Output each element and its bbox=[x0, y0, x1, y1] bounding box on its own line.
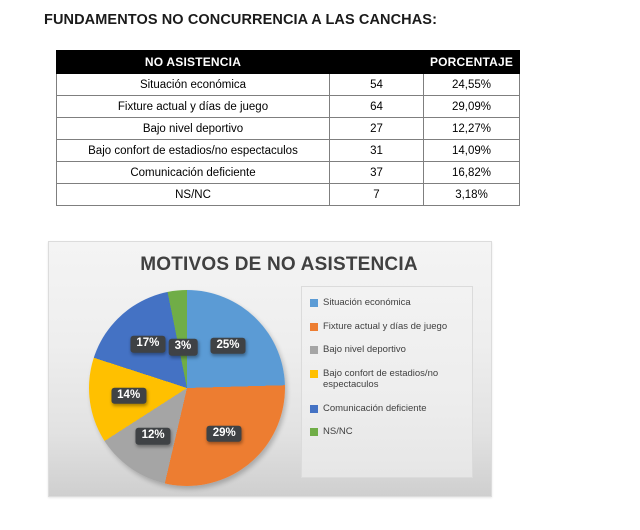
legend-swatch-icon bbox=[310, 405, 318, 413]
legend-swatch-icon bbox=[310, 370, 318, 378]
cell-label: Situación económica bbox=[57, 74, 330, 96]
cell-percent: 16,82% bbox=[424, 162, 520, 184]
legend-label: NS/NC bbox=[323, 426, 353, 438]
pie-data-label: 3% bbox=[169, 339, 198, 356]
data-table-container: NO ASISTENCIA PORCENTAJE Situación econó… bbox=[56, 50, 492, 206]
cell-percent: 3,18% bbox=[424, 184, 520, 206]
legend-item[interactable]: Bajo confort de estadios/no espectaculos bbox=[310, 368, 464, 391]
pie-data-label: 14% bbox=[111, 387, 146, 404]
legend-swatch-icon bbox=[310, 346, 318, 354]
cell-count: 37 bbox=[330, 162, 424, 184]
pie-data-label: 17% bbox=[130, 336, 165, 353]
cell-count: 7 bbox=[330, 184, 424, 206]
legend-label: Fixture actual y días de juego bbox=[323, 321, 447, 333]
pie-data-label: 12% bbox=[136, 428, 171, 445]
legend-item[interactable]: NS/NC bbox=[310, 426, 464, 438]
cell-count: 64 bbox=[330, 96, 424, 118]
table-body: Situación económica5424,55%Fixture actua… bbox=[57, 74, 520, 206]
table-row: Bajo nivel deportivo2712,27% bbox=[57, 118, 520, 140]
legend-item[interactable]: Fixture actual y días de juego bbox=[310, 321, 464, 333]
chart-panel: MOTIVOS DE NO ASISTENCIA 25%29%12%14%17%… bbox=[48, 241, 492, 497]
legend-swatch-icon bbox=[310, 323, 318, 331]
table-row: Comunicación deficiente3716,82% bbox=[57, 162, 520, 184]
cell-label: Fixture actual y días de juego bbox=[57, 96, 330, 118]
table-row: NS/NC73,18% bbox=[57, 184, 520, 206]
legend-swatch-icon bbox=[310, 428, 318, 436]
column-header-count bbox=[330, 51, 424, 74]
chart-legend: Situación económicaFixture actual y días… bbox=[301, 286, 473, 478]
legend-label: Comunicación deficiente bbox=[323, 403, 427, 415]
table-header-row: NO ASISTENCIA PORCENTAJE bbox=[57, 51, 520, 74]
cell-count: 27 bbox=[330, 118, 424, 140]
pie-data-label: 29% bbox=[207, 425, 242, 442]
legend-item[interactable]: Situación económica bbox=[310, 297, 464, 309]
cell-percent: 14,09% bbox=[424, 140, 520, 162]
cell-label: Comunicación deficiente bbox=[57, 162, 330, 184]
cell-label: NS/NC bbox=[57, 184, 330, 206]
cell-count: 54 bbox=[330, 74, 424, 96]
page-title: FUNDAMENTOS NO CONCURRENCIA A LAS CANCHA… bbox=[44, 12, 437, 28]
legend-item[interactable]: Bajo nivel deportivo bbox=[310, 344, 464, 356]
cell-percent: 29,09% bbox=[424, 96, 520, 118]
chart-title: MOTIVOS DE NO ASISTENCIA bbox=[49, 254, 491, 276]
cell-label: Bajo confort de estadios/no espectaculos bbox=[57, 140, 330, 162]
legend-label: Situación económica bbox=[323, 297, 411, 309]
column-header-porcentaje: PORCENTAJE bbox=[424, 51, 520, 74]
pie-data-label: 25% bbox=[210, 338, 245, 355]
cell-label: Bajo nivel deportivo bbox=[57, 118, 330, 140]
cell-count: 31 bbox=[330, 140, 424, 162]
table-row: Fixture actual y días de juego6429,09% bbox=[57, 96, 520, 118]
legend-label: Bajo nivel deportivo bbox=[323, 344, 406, 356]
column-header-no-asistencia: NO ASISTENCIA bbox=[57, 51, 330, 74]
table-row: Situación económica5424,55% bbox=[57, 74, 520, 96]
pie-chart-area: 25%29%12%14%17%3% bbox=[65, 288, 321, 488]
table-header: NO ASISTENCIA PORCENTAJE bbox=[57, 51, 520, 74]
legend-item[interactable]: Comunicación deficiente bbox=[310, 403, 464, 415]
legend-swatch-icon bbox=[310, 299, 318, 307]
table-row: Bajo confort de estadios/no espectaculos… bbox=[57, 140, 520, 162]
no-asistencia-table: NO ASISTENCIA PORCENTAJE Situación econó… bbox=[56, 50, 520, 206]
legend-label: Bajo confort de estadios/no espectaculos bbox=[323, 368, 464, 391]
cell-percent: 24,55% bbox=[424, 74, 520, 96]
cell-percent: 12,27% bbox=[424, 118, 520, 140]
